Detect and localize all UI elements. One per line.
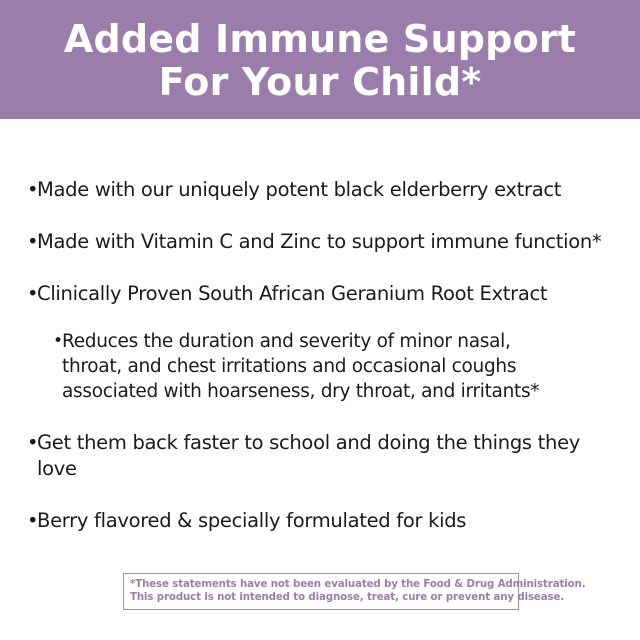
sub-list-item-label: Reduces the duration and severity of min… [62, 329, 610, 404]
bullet-point-icon: • [27, 229, 36, 255]
list-item-label: Get them back faster to school and doing… [37, 430, 620, 482]
banner-title-line-2: For Your Child* [159, 61, 482, 104]
bullet-point-icon: • [27, 508, 36, 534]
banner-title-line-1: Added Immune Support [64, 18, 576, 61]
list-item: • Made with Vitamin C and Zinc to suppor… [0, 229, 640, 255]
fda-disclaimer-box: *These statements have not been evaluate… [123, 573, 519, 610]
list-item-label: Made with our uniquely potent black elde… [37, 177, 620, 203]
product-benefits-card: Added Immune Support For Your Child* • M… [0, 0, 640, 640]
list-item-label: Made with Vitamin C and Zinc to support … [37, 229, 620, 255]
bullet-point-icon: • [27, 281, 36, 307]
bullet-point-icon: • [27, 177, 36, 203]
sub-list-item-line-2: throat, and chest irritations and occasi… [62, 354, 610, 379]
benefits-list: • Made with our uniquely potent black el… [0, 177, 640, 534]
disclaimer-line-1: *These statements have not been evaluate… [130, 578, 512, 591]
list-item: • Made with our uniquely potent black el… [0, 177, 640, 203]
list-item: • Berry flavored & specially formulated … [0, 508, 640, 534]
sub-list-item-row: • Reduces the duration and severity of m… [53, 329, 610, 404]
bullet-point-icon: • [53, 329, 62, 354]
list-item: • Clinically Proven South African Gerani… [0, 281, 640, 307]
sub-list-item-line-1: Reduces the duration and severity of min… [62, 329, 610, 354]
sub-list-item-line-3: associated with hoarseness, dry throat, … [62, 379, 610, 404]
sub-list-item: • Reduces the duration and severity of m… [0, 329, 640, 404]
benefits-body: • Made with our uniquely potent black el… [0, 119, 640, 640]
bullet-point-icon: • [27, 430, 36, 456]
disclaimer-line-2: This product is not intended to diagnose… [130, 591, 512, 604]
header-banner: Added Immune Support For Your Child* [0, 0, 640, 119]
list-item-label: Berry flavored & specially formulated fo… [37, 508, 620, 534]
list-item-label: Clinically Proven South African Geranium… [37, 281, 620, 307]
list-item: • Get them back faster to school and doi… [0, 430, 640, 482]
